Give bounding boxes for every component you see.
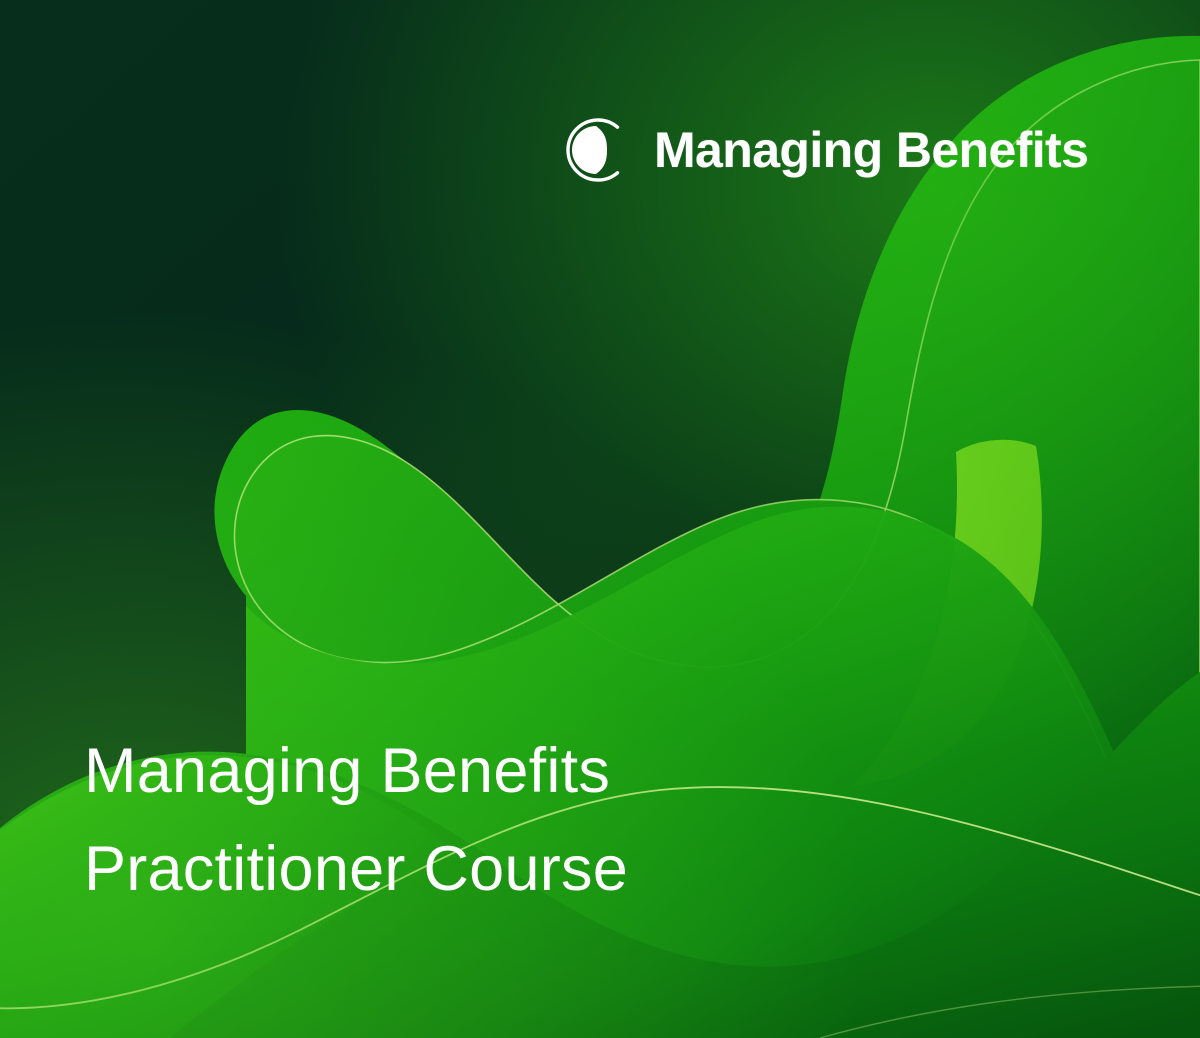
page-title: Managing Benefits Practitioner Course <box>84 722 628 918</box>
page-title-line-1: Managing Benefits <box>84 722 628 820</box>
brand-name: Managing Benefits <box>654 125 1088 175</box>
brand-lockup: Managing Benefits <box>560 114 1088 186</box>
course-banner: Managing Benefits Managing Benefits Prac… <box>0 0 1200 1038</box>
page-title-line-2: Practitioner Course <box>84 820 628 918</box>
crescent-ring-logo-icon <box>560 114 632 186</box>
